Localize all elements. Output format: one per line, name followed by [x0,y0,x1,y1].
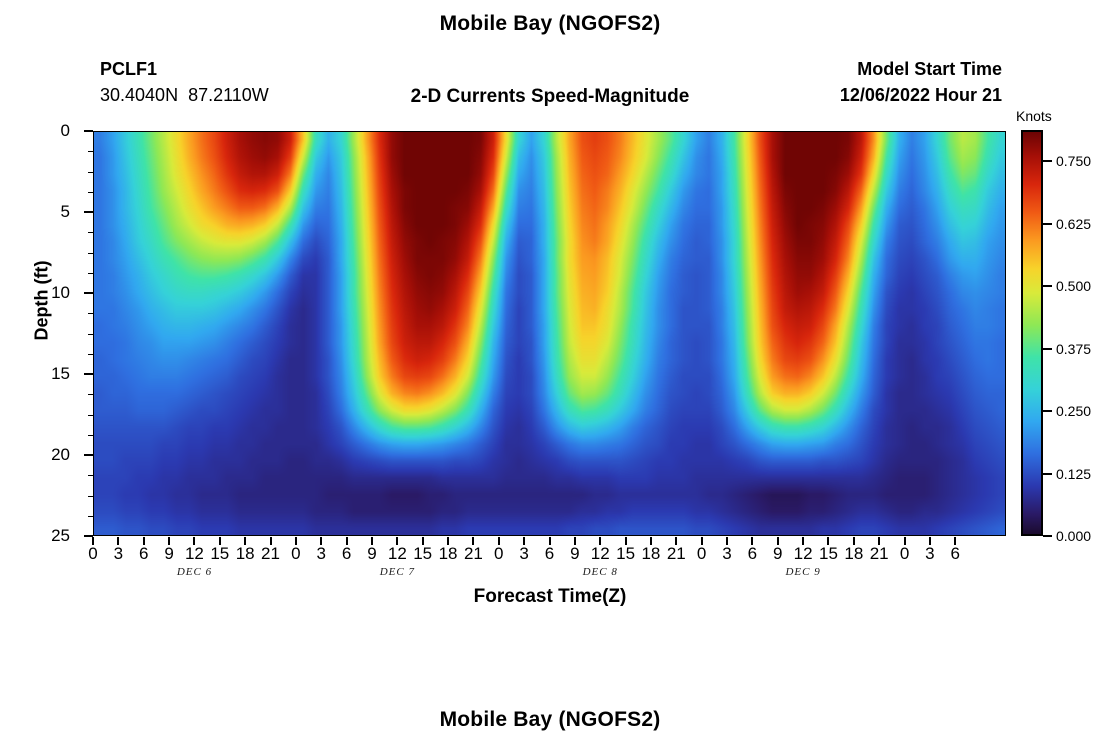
x-axis-day-label: DEC 7 [342,566,452,578]
colorbar [1021,130,1043,536]
y-axis-minor-tick [88,516,93,517]
station-id: PCLF1 [100,56,269,82]
colorbar-tick-label: 0.250 [1056,404,1091,418]
colorbar-tick [1043,285,1052,287]
colorbar-tick [1043,223,1052,225]
y-axis-tick-label: 5 [30,203,70,220]
y-axis-minor-tick [88,394,93,395]
colorbar-unit-label: Knots [1016,109,1052,124]
y-axis-tick-label: 0 [30,122,70,139]
y-axis-minor-tick [88,313,93,314]
secondary-panel-title: Mobile Bay (NGOFS2) [0,708,1100,732]
y-axis-minor-tick [88,435,93,436]
y-axis-tick [84,292,93,294]
colorbar-tick-label: 0.125 [1056,467,1091,481]
y-axis-tick-label: 10 [30,284,70,301]
y-axis-minor-tick [88,354,93,355]
colorbar-tick-label: 0.750 [1056,154,1091,168]
x-axis-tick-label: 6 [938,545,972,563]
heatmap-canvas [94,132,1006,536]
colorbar-tick-label: 0.375 [1056,342,1091,356]
y-axis-minor-tick [88,334,93,335]
y-axis-minor-tick [88,273,93,274]
model-start-label: Model Start Time [840,56,1002,82]
colorbar-tick-label: 0.500 [1056,279,1091,293]
y-axis-tick [84,130,93,132]
y-axis-tick [84,211,93,213]
y-axis-minor-tick [88,172,93,173]
model-start-info: Model Start Time 12/06/2022 Hour 21 [840,56,1002,108]
y-axis-tick [84,373,93,375]
y-axis-minor-tick [88,496,93,497]
colorbar-tick-label: 0.000 [1056,529,1091,543]
colorbar-tick [1043,348,1052,350]
colorbar-tick [1043,535,1052,537]
colorbar-tick-label: 0.625 [1056,217,1091,231]
colorbar-gradient [1023,132,1041,534]
heatmap-plot-area [93,131,1006,536]
x-axis-title: Forecast Time(Z) [0,586,1100,608]
y-axis-minor-tick [88,192,93,193]
colorbar-tick [1043,473,1052,475]
x-axis-day-label: DEC 8 [545,566,655,578]
y-axis-tick-label: 15 [30,365,70,382]
model-start-value: 12/06/2022 Hour 21 [840,82,1002,108]
y-axis-minor-tick [88,475,93,476]
page-title: Mobile Bay (NGOFS2) [0,12,1100,36]
y-axis-minor-tick [88,151,93,152]
x-axis-day-label: DEC 6 [139,566,249,578]
y-axis-minor-tick [88,415,93,416]
colorbar-tick [1043,160,1052,162]
y-axis-minor-tick [88,253,93,254]
y-axis-tick-label: 25 [30,527,70,544]
y-axis-minor-tick [88,232,93,233]
y-axis-tick [84,454,93,456]
x-axis-day-label: DEC 9 [748,566,858,578]
colorbar-tick [1043,410,1052,412]
y-axis-tick-label: 20 [30,446,70,463]
